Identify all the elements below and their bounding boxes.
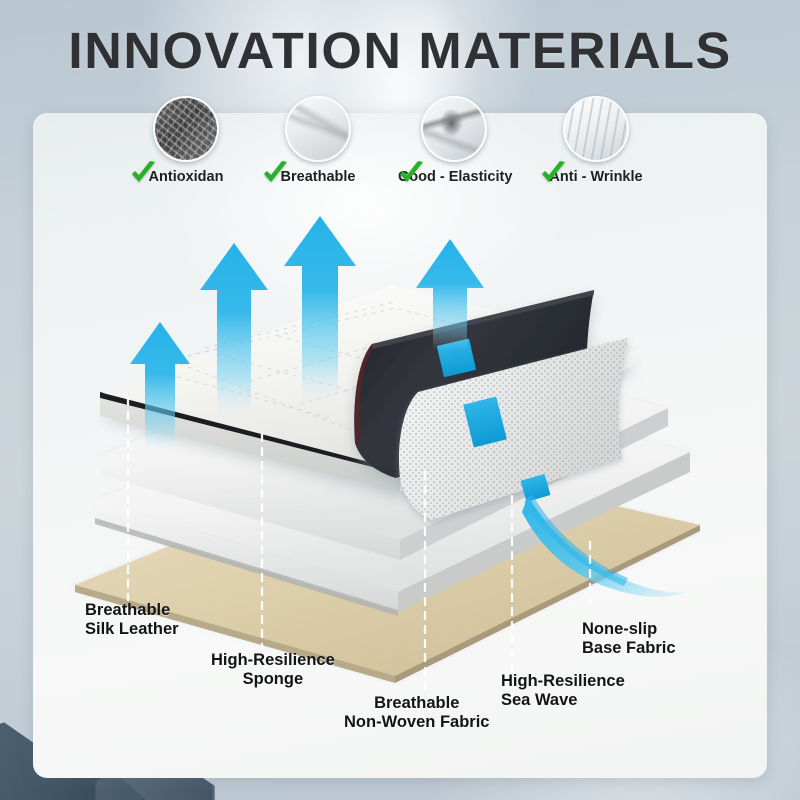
callout-non-woven-fabric: Breathable Non-Woven Fabric — [344, 694, 489, 732]
callout-line-2: Silk Leather — [85, 620, 179, 639]
callout-line-1: None-slip — [582, 620, 657, 638]
callout-line-1: Breathable — [85, 601, 170, 619]
callout-sponge: High-Resilience Sponge — [211, 651, 335, 689]
feature-badge-breathable[interactable]: Breathable — [262, 96, 374, 185]
check-icon — [396, 159, 426, 189]
feature-badge-good-elasticity[interactable]: Good - Elasticity — [398, 96, 510, 185]
fiber-texture-icon — [155, 98, 217, 160]
callout-line-2: Non-Woven Fabric — [344, 713, 489, 732]
feature-badges: Antioxidan Breathable Good - Elasticity … — [0, 96, 800, 208]
check-icon — [538, 159, 568, 189]
feature-icon-circle — [421, 96, 487, 162]
callout-line-2: Base Fabric — [582, 639, 676, 658]
folded-fabric-icon — [287, 98, 349, 160]
check-icon — [260, 159, 290, 189]
callout-line-1: High-Resilience — [211, 651, 335, 669]
check-icon — [128, 159, 158, 189]
callout-base-fabric: None-slip Base Fabric — [582, 620, 676, 658]
feature-icon-circle — [563, 96, 629, 162]
smooth-sheet-icon — [565, 98, 627, 160]
callout-line-1: High-Resilience — [501, 672, 625, 690]
hand-squeeze-icon — [423, 98, 485, 160]
callout-sea-wave: High-Resilience Sea Wave — [501, 672, 625, 710]
callout-silk-leather: Breathable Silk Leather — [85, 601, 179, 639]
callout-line-1: Breathable — [374, 694, 459, 712]
callout-line-2: Sponge — [211, 670, 335, 689]
feature-icon-circle — [153, 96, 219, 162]
feature-icon-circle — [285, 96, 351, 162]
callout-line-2: Sea Wave — [501, 691, 625, 710]
feature-badge-antioxidan[interactable]: Antioxidan — [130, 96, 242, 185]
feature-badge-anti-wrinkle[interactable]: Anti - Wrinkle — [540, 96, 652, 185]
